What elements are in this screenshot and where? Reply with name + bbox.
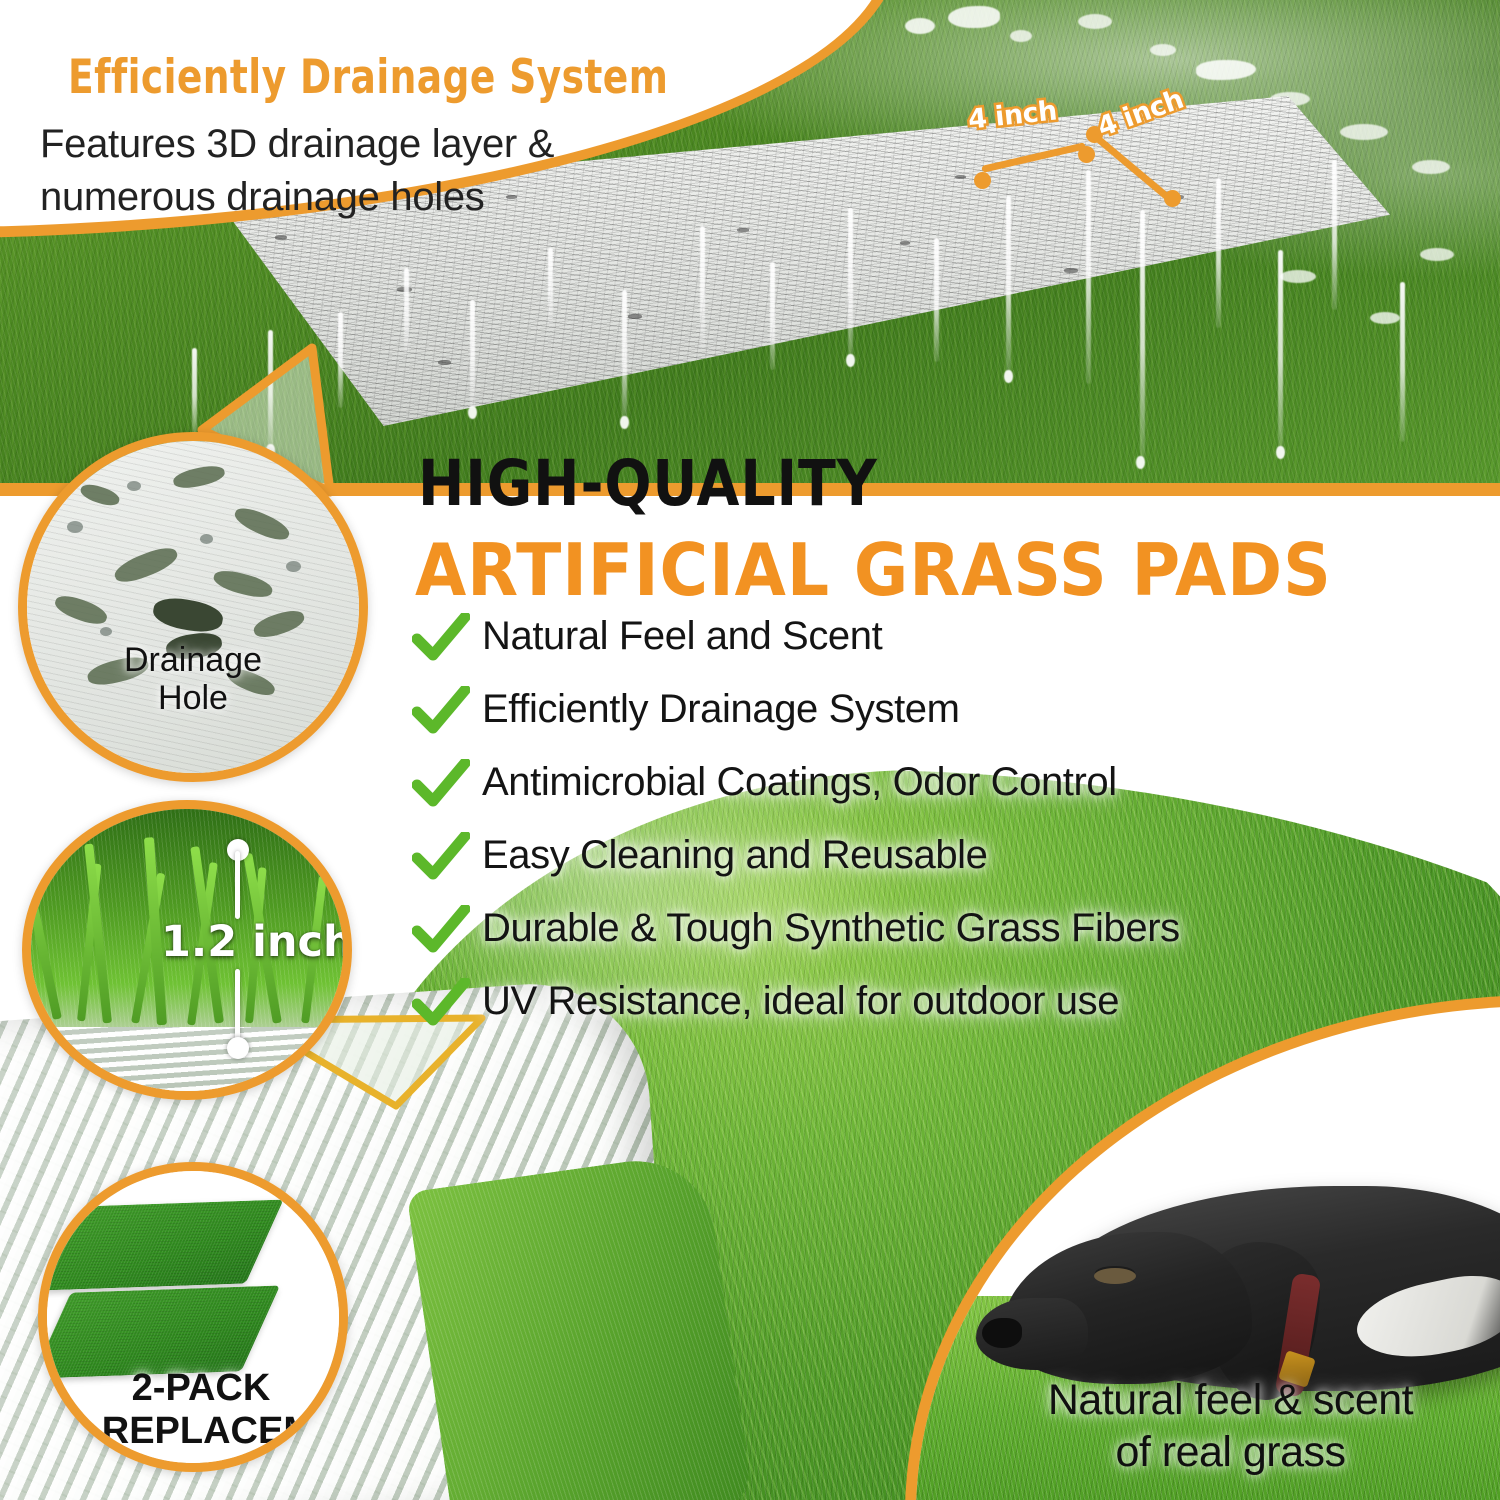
main-title-top: HIGH-QUALITY bbox=[418, 447, 878, 520]
thickness-label: 1.2 inch bbox=[161, 917, 352, 967]
header-title: Efficiently Drainage System bbox=[68, 50, 668, 105]
drainage-hole-photo bbox=[27, 441, 359, 773]
check-icon bbox=[412, 686, 470, 734]
header-subtitle-line2: numerous drainage holes bbox=[40, 171, 554, 224]
water-stream bbox=[1400, 282, 1405, 442]
infographic-root: 4 inch 4 inch Efficiently Drainage Syste… bbox=[0, 0, 1500, 1500]
feature-item: Efficiently Drainage System bbox=[412, 673, 1412, 746]
water-splash bbox=[1010, 30, 1032, 42]
water-splash bbox=[948, 6, 1000, 28]
dog-eye bbox=[1094, 1268, 1136, 1284]
feature-label: Natural Feel and Scent bbox=[482, 614, 882, 659]
check-icon bbox=[412, 613, 470, 661]
water-splash bbox=[1078, 14, 1112, 29]
water-stream bbox=[1278, 250, 1283, 450]
feature-item: Easy Cleaning and Reusable bbox=[412, 819, 1412, 892]
two-pack-label: 2-PACK FOR REPLACEMENT bbox=[38, 1367, 348, 1452]
dog-caption: Natural feel & scent of real grass bbox=[916, 1374, 1500, 1479]
water-splash bbox=[1280, 270, 1316, 283]
feature-label: Durable & Tough Synthetic Grass Fibers bbox=[482, 906, 1180, 951]
feature-label: Efficiently Drainage System bbox=[482, 687, 960, 732]
water-stream bbox=[848, 208, 853, 358]
water-stream bbox=[934, 238, 939, 362]
feature-label: Antimicrobial Coatings, Odor Control bbox=[482, 760, 1117, 805]
two-pack-callout: 2-PACK FOR REPLACEMENT bbox=[38, 1162, 348, 1472]
water-stream bbox=[1140, 210, 1145, 460]
drainage-hole-callout: Drainage Hole bbox=[18, 432, 368, 782]
feature-item: Natural Feel and Scent bbox=[412, 600, 1412, 673]
header-text-block: Efficiently Drainage System Features 3D … bbox=[0, 0, 900, 230]
water-splash bbox=[1340, 124, 1388, 140]
drainage-hole-label: Drainage Hole bbox=[27, 641, 359, 717]
check-icon bbox=[412, 832, 470, 880]
header-subtitle-line1: Features 3D drainage layer & bbox=[40, 118, 554, 171]
water-stream bbox=[548, 248, 553, 326]
water-stream bbox=[1006, 196, 1011, 374]
drainage-hole-label-line2: Hole bbox=[27, 679, 359, 717]
drainage-hole-label-line1: Drainage bbox=[27, 641, 359, 679]
check-icon bbox=[412, 759, 470, 807]
dog-nose bbox=[982, 1318, 1022, 1348]
check-icon bbox=[412, 978, 470, 1026]
water-splash bbox=[1150, 44, 1176, 56]
feature-list: Natural Feel and Scent Efficiently Drain… bbox=[412, 600, 1412, 1038]
check-icon bbox=[412, 905, 470, 953]
feature-item: UV Resistance, ideal for outdoor use bbox=[412, 965, 1412, 1038]
water-splash bbox=[1370, 312, 1400, 324]
water-splash bbox=[905, 18, 935, 34]
mat-backing-band bbox=[31, 1027, 343, 1091]
water-stream bbox=[1332, 160, 1337, 310]
water-splash bbox=[1420, 248, 1454, 261]
feature-label: UV Resistance, ideal for outdoor use bbox=[482, 979, 1119, 1024]
two-pack-label-line2: FOR REPLACEMENT bbox=[38, 1410, 348, 1453]
feature-item: Antimicrobial Coatings, Odor Control bbox=[412, 746, 1412, 819]
feature-item: Durable & Tough Synthetic Grass Fibers bbox=[412, 892, 1412, 965]
water-stream bbox=[1216, 178, 1221, 328]
two-pack-label-line1: 2-PACK bbox=[38, 1367, 348, 1410]
thickness-callout: 1.2 inch bbox=[22, 800, 352, 1100]
water-splash bbox=[1412, 160, 1450, 174]
grass-roll-green-edge bbox=[406, 1151, 753, 1500]
feature-label: Easy Cleaning and Reusable bbox=[482, 833, 988, 878]
header-subtitle: Features 3D drainage layer & numerous dr… bbox=[40, 118, 554, 224]
water-stream bbox=[1086, 170, 1091, 384]
water-stream bbox=[622, 290, 627, 420]
dog-caption-line1: Natural feel & scent bbox=[916, 1374, 1500, 1426]
water-stream bbox=[700, 226, 705, 350]
water-stream bbox=[770, 262, 775, 370]
dog-caption-line2: of real grass bbox=[916, 1426, 1500, 1478]
